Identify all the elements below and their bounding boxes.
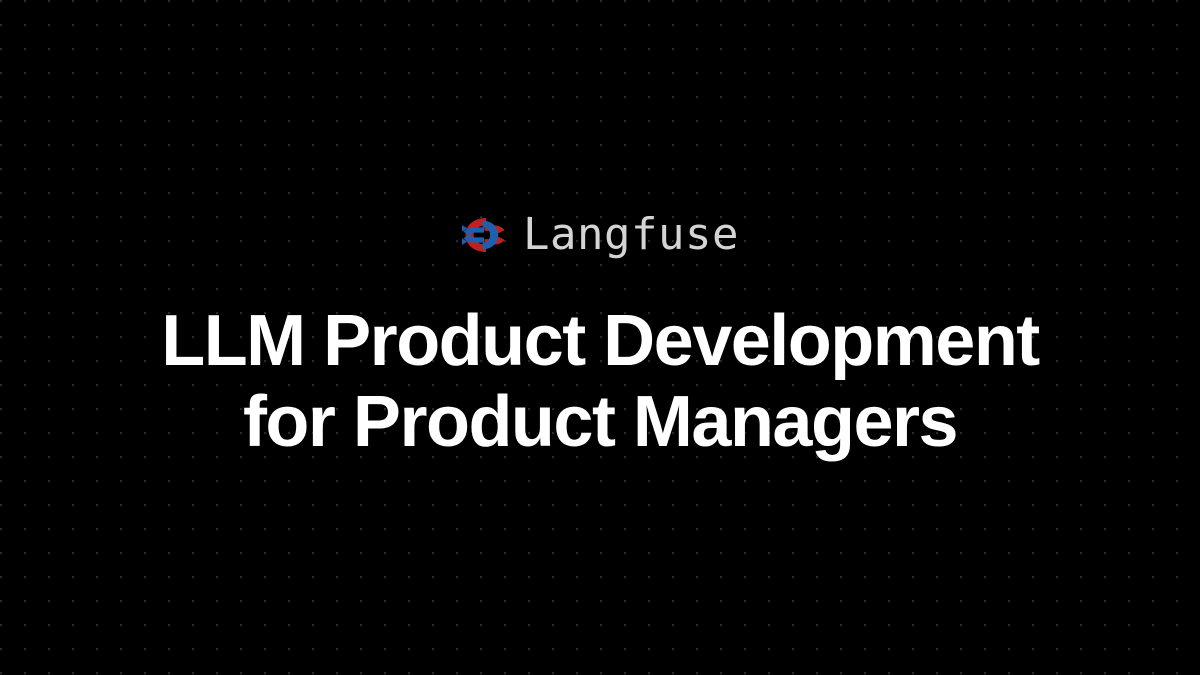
og-image-canvas: Langfuse LLM Product Development for Pro… (0, 0, 1200, 675)
hero-content: Langfuse LLM Product Development for Pro… (0, 0, 1200, 675)
langfuse-logo-icon (461, 216, 507, 254)
page-title: LLM Product Development for Product Mana… (161, 301, 1039, 462)
brand-lockup: Langfuse (461, 213, 739, 257)
brand-wordmark: Langfuse (523, 213, 739, 257)
